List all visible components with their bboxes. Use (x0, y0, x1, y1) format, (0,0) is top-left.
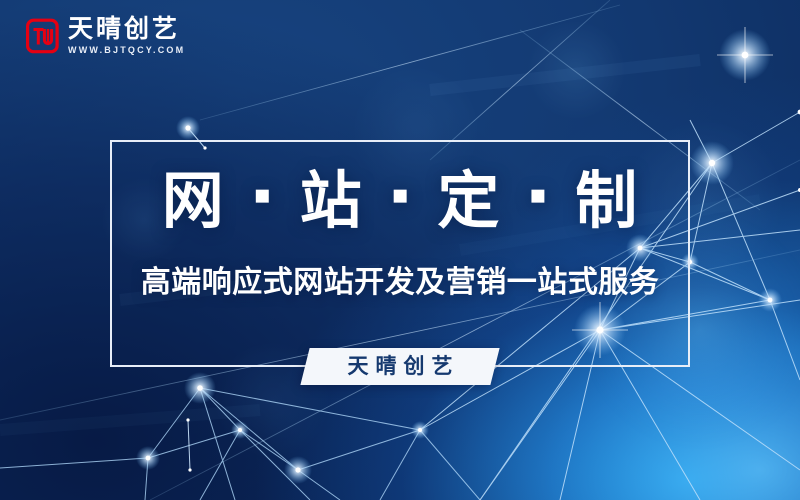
headline-separator-3: ▪ (529, 180, 547, 210)
brand-logo[interactable]: 天晴创艺 WWW.BJTQCY.COM (26, 16, 185, 56)
headline-char-1: 网 (162, 164, 225, 237)
headline-separator-1: ▪ (253, 180, 271, 210)
headline-char-2: 站 (300, 164, 363, 237)
headline-separator-2: ▪ (391, 180, 409, 210)
brand-ribbon-label: 天晴创艺 (305, 348, 495, 385)
logo-text-block: 天晴创艺 WWW.BJTQCY.COM (68, 16, 185, 56)
headline-char-3: 定 (437, 164, 500, 237)
logo-website-url: WWW.BJTQCY.COM (68, 44, 185, 56)
logo-mark-icon (26, 18, 59, 54)
promo-banner: 天晴创艺 WWW.BJTQCY.COM 网 ▪ 站 ▪ 定 ▪ 制 高端响应式网… (0, 0, 800, 500)
brand-ribbon: 天晴创艺 (300, 348, 499, 385)
logo-company-name: 天晴创艺 (68, 16, 185, 41)
headline-char-4: 制 (575, 164, 638, 237)
hero-subtitle: 高端响应式网站开发及营销一站式服务 (0, 266, 800, 300)
hero-headline: 网 ▪ 站 ▪ 定 ▪ 制 (0, 170, 800, 236)
